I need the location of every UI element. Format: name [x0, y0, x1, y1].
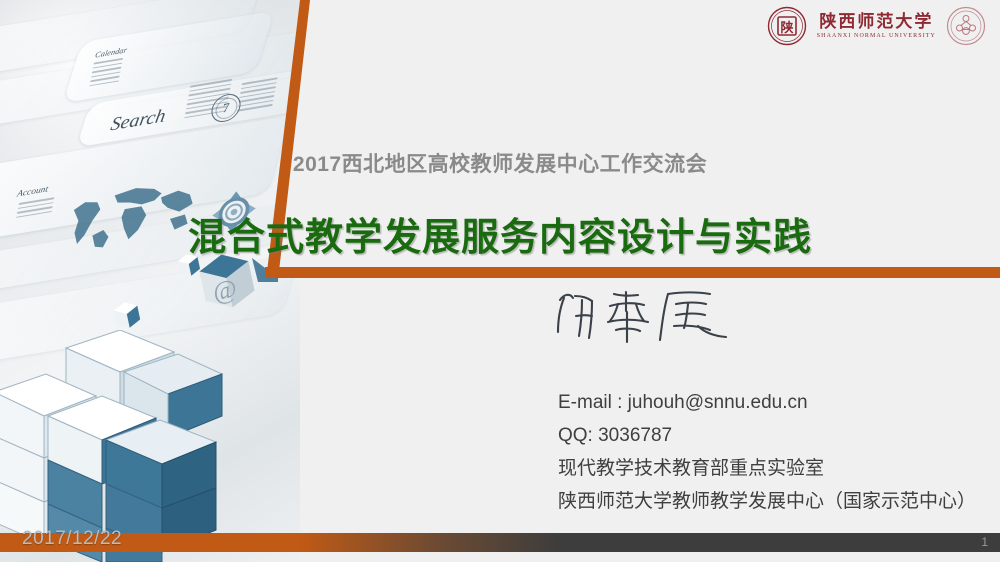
- contact-qq: QQ: 3036787: [558, 419, 976, 452]
- artwork-badge-number: 7: [222, 100, 230, 117]
- university-name-chinese: 陕西师范大学: [819, 13, 933, 30]
- secondary-seal-icon: [946, 6, 986, 46]
- page-number: 1: [981, 535, 988, 549]
- handwritten-signature: [548, 284, 758, 346]
- decorative-technology-artwork: Calendar Search Account 7: [0, 0, 300, 562]
- small-cube-icon: [109, 297, 145, 333]
- slide-main-title: 混合式教学发展服务内容设计与实践: [0, 206, 1000, 261]
- university-name-english: SHAANXI NORMAL UNIVERSITY: [817, 33, 936, 39]
- contact-info-block: E-mail : juhouh@snnu.edu.cn QQ: 3036787 …: [558, 386, 976, 518]
- slide-date: 2017/12/22: [22, 528, 122, 550]
- affiliation-center: 陕西师范大学教师教学发展中心（国家示范中心）: [558, 485, 976, 518]
- university-wordmark: 陕西师范大学 SHAANXI NORMAL UNIVERSITY: [817, 13, 936, 39]
- university-seal-icon: 陕: [767, 6, 807, 46]
- university-logo-group: 陕 陕西师范大学 SHAANXI NORMAL UNIVERSITY: [767, 6, 986, 46]
- footer-bar: [0, 533, 1000, 552]
- orange-horizontal-rule: [265, 267, 1000, 278]
- svg-text:陕: 陕: [780, 20, 794, 35]
- presentation-slide: Calendar Search Account 7: [0, 0, 1000, 562]
- event-subtitle: 2017西北地区高校教师发展中心工作交流会: [0, 148, 1000, 178]
- contact-email: E-mail : juhouh@snnu.edu.cn: [558, 386, 976, 419]
- affiliation-lab: 现代教学技术教育部重点实验室: [558, 452, 976, 485]
